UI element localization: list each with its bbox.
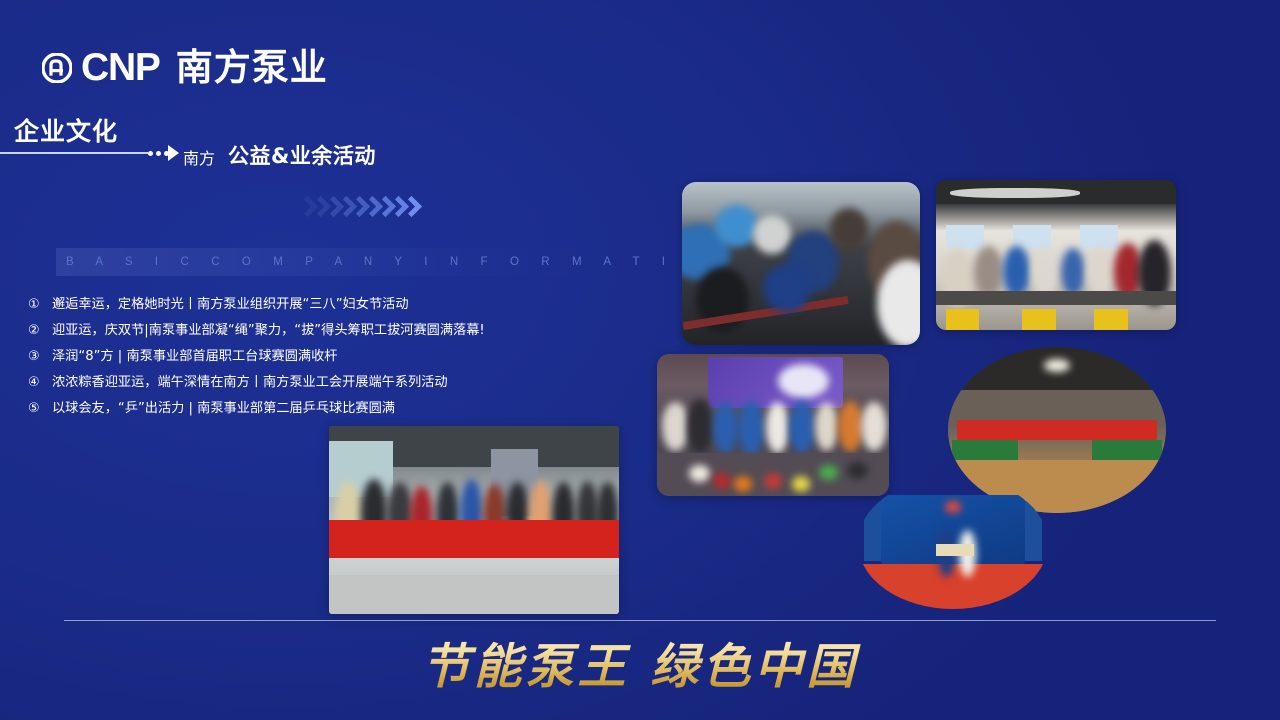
chevron-right-icon — [404, 196, 415, 222]
basic-company-information-strip: B A S I C C O M P A N Y I N F O R M A T … — [56, 248, 586, 276]
list-item-label: 浓浓粽香迎亚运，端午深情在南方丨南方泵业工会开展端午系列活动 — [52, 370, 588, 396]
chevron-right-icon — [313, 196, 324, 222]
chevron-right-icon — [391, 196, 402, 222]
brand-latin-name: CNP — [81, 48, 160, 87]
list-item-label: 泽润“8”方 | 南泵事业部首届职工台球赛圆满收杆 — [52, 344, 588, 370]
chevron-right-icon — [365, 196, 376, 222]
list-item: ④浓浓粽香迎亚运，端午深情在南方丨南方泵业工会开展端午系列活动 — [28, 370, 588, 396]
strip-label: B A S I C C O M P A N Y I N F O R M A T … — [56, 256, 737, 268]
table-tennis-group-photo — [329, 426, 619, 614]
brand-chinese-name: 南方泵业 — [176, 49, 328, 86]
chevron-right-icon — [326, 196, 337, 222]
subtitle-main: 公益&业余活动 — [228, 140, 376, 170]
subtitle-prefix: 南方 — [183, 145, 215, 169]
list-item-number: ② — [28, 318, 52, 344]
list-item: ②迎亚运，庆双节|南泵事业部凝“绳”聚力，“拔”得头筹职工拔河赛圆满落幕! — [28, 318, 588, 344]
list-item-number: ④ — [28, 370, 52, 396]
list-item: ③泽润“8”方 | 南泵事业部首届职工台球赛圆满收杆 — [28, 344, 588, 370]
list-item-label: 以球会友，“乒”出活力 | 南泵事业部第二届乒乓球比赛圆满 — [52, 396, 588, 422]
list-item: ①邂逅幸运，定格她时光丨南方泵业组织开展“三八”妇女节活动 — [28, 292, 588, 318]
footer-divider — [64, 620, 1216, 621]
page-title: 企业文化 — [14, 112, 118, 148]
award-ceremony-photo — [858, 477, 1048, 609]
chevron-right-repeat-icon — [300, 196, 415, 222]
list-item-label: 邂逅幸运，定格她时光丨南方泵业组织开展“三八”妇女节活动 — [52, 292, 588, 318]
list-item-number: ③ — [28, 344, 52, 370]
list-item-label: 迎亚运，庆双节|南泵事业部凝“绳”聚力，“拔”得头筹职工拔河赛圆满落幕! — [52, 318, 588, 344]
brand-lockup: CNP 南方泵业 — [42, 48, 328, 87]
chevron-right-icon — [339, 196, 350, 222]
chevron-right-icon — [378, 196, 389, 222]
title-underline — [0, 152, 148, 154]
three-dots-icon — [148, 151, 169, 156]
canteen-activity-photo — [936, 180, 1176, 330]
chevron-right-icon — [300, 196, 311, 222]
cnp-circle-logo-icon — [42, 53, 72, 83]
chevron-right-icon — [352, 196, 363, 222]
indoor-gala-photo — [657, 354, 889, 496]
list-item: ⑤以球会友，“乒”出活力 | 南泵事业部第二届乒乓球比赛圆满 — [28, 396, 588, 422]
list-item-number: ① — [28, 292, 52, 318]
activity-list: ①邂逅幸运，定格她时光丨南方泵业组织开展“三八”妇女节活动②迎亚运，庆双节|南泵… — [28, 292, 588, 422]
section-header: 企业文化 南方 公益&业余活动 — [0, 112, 700, 168]
slide-canvas: CNP 南方泵业 企业文化 南方 公益&业余活动 B A S I C C O M… — [0, 0, 1280, 720]
tug-of-war-photo — [682, 182, 920, 345]
list-item-number: ⑤ — [28, 396, 52, 422]
play-triangle-icon — [168, 145, 179, 161]
footer-slogan: 节能泵王 绿色中国 — [0, 634, 1280, 700]
